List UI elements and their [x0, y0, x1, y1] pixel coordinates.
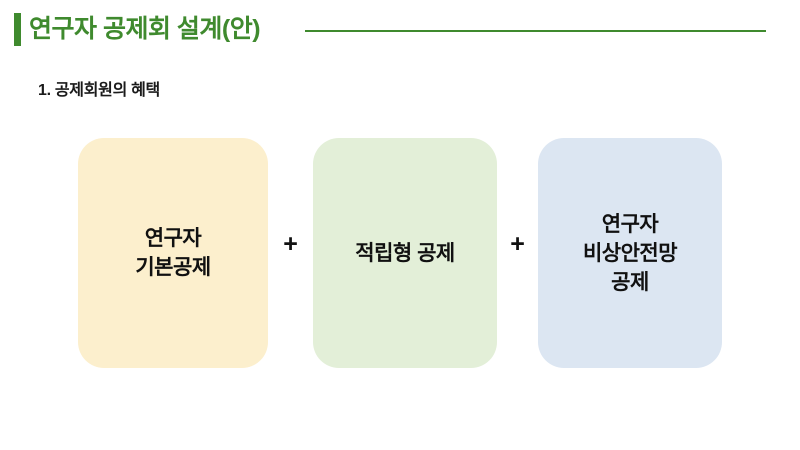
slide-header: 연구자 공제회 설계(안) [0, 0, 800, 60]
benefit-diagram: 연구자 기본공제 + 적립형 공제 + 연구자 비상안전망 공제 [78, 138, 722, 368]
presentation-slide: 연구자 공제회 설계(안) 1. 공제회원의 혜택 연구자 기본공제 + 적립형… [0, 0, 800, 450]
benefit-box-accumulation-type[interactable]: 적립형 공제 [313, 138, 497, 368]
section-heading: 1. 공제회원의 혜택 [38, 76, 160, 100]
title-accent-bar [14, 13, 21, 46]
page-title: 연구자 공제회 설계(안) [29, 11, 260, 47]
benefit-box-emergency-safety-net[interactable]: 연구자 비상안전망 공제 [538, 138, 722, 368]
benefit-box-label: 연구자 기본공제 [135, 224, 210, 282]
benefit-box-basic-mutual-aid[interactable]: 연구자 기본공제 [78, 138, 268, 368]
title-divider-rule [305, 30, 766, 32]
benefit-box-label: 연구자 비상안전망 공제 [583, 210, 677, 297]
plus-operator-icon-1: + [268, 222, 313, 267]
benefit-box-label: 적립형 공제 [355, 239, 454, 268]
plus-operator-icon-2: + [495, 222, 540, 267]
